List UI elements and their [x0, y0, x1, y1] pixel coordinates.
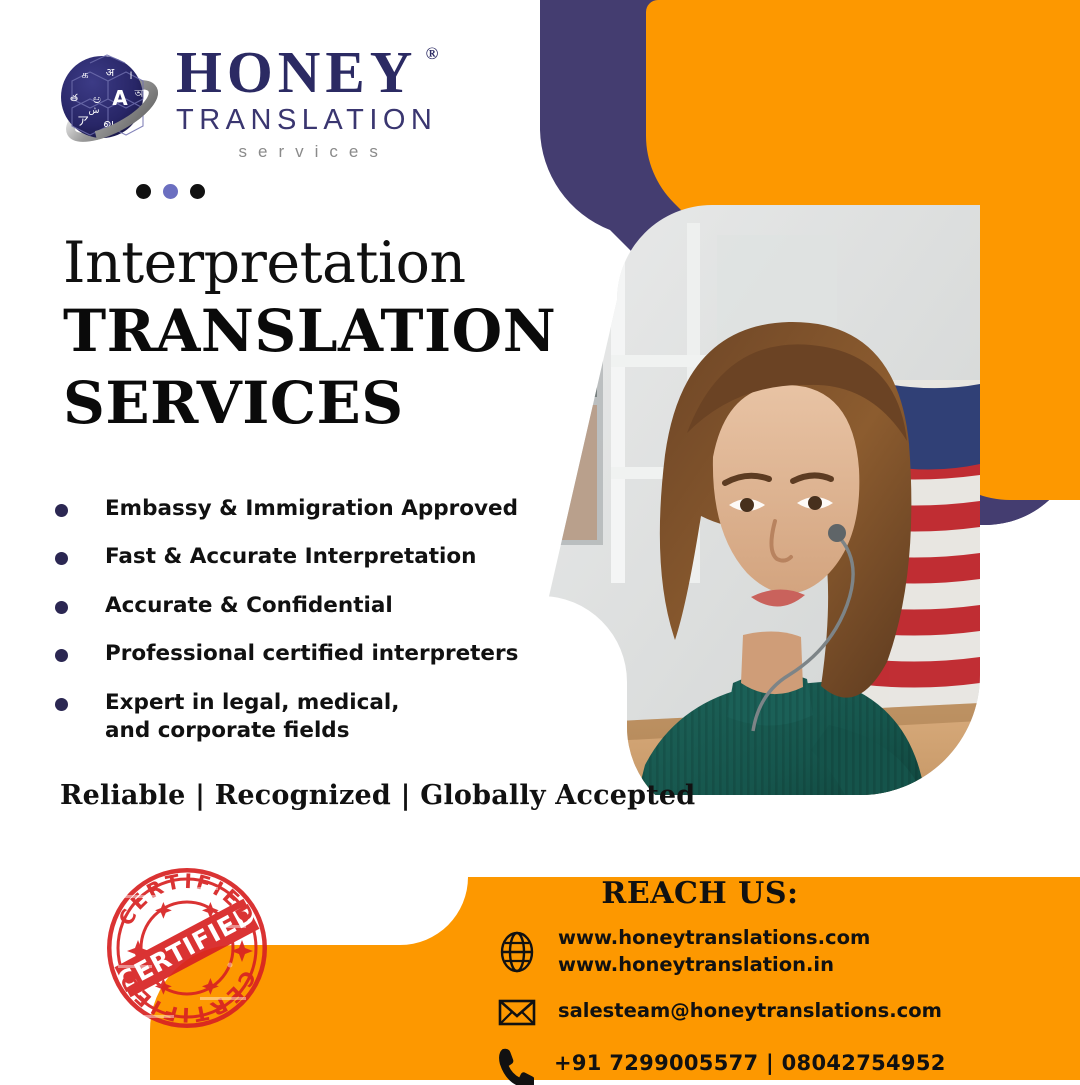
- envelope-icon: [496, 991, 538, 1033]
- list-item: Professional certified interpreters: [55, 640, 525, 668]
- certified-stamp-icon: CERTIFIED CERTIFIED CERTIFIED: [104, 865, 270, 1031]
- logo-name-tag: services: [176, 142, 437, 162]
- list-item-label: Fast & Accurate Interpretation: [105, 543, 476, 571]
- svg-text:ア: ア: [77, 114, 89, 128]
- email-address[interactable]: salesteam@honeytranslations.com: [558, 998, 942, 1025]
- bullet-dot-icon: [55, 649, 68, 662]
- bullet-dot-icon: [55, 552, 68, 565]
- brand-logo[interactable]: க अ ا త ಅ A অ ア ഖ ଳ ش HONEY ® TRANSLATIO…: [50, 40, 470, 199]
- headline-script-line: Interpretation: [63, 235, 533, 292]
- globe-languages-icon: க अ ا త ಅ A অ ア ഖ ଳ ش: [50, 45, 162, 157]
- carousel-dots: [50, 184, 280, 199]
- bullet-dot-icon: [55, 504, 68, 517]
- list-item-label: Expert in legal, medical, and corporate …: [105, 689, 445, 746]
- list-item: Expert in legal, medical, and corporate …: [55, 689, 525, 746]
- list-item-label: Embassy & Immigration Approved: [105, 495, 518, 523]
- registered-trademark-mark: ®: [426, 46, 439, 62]
- svg-text:ا: ا: [130, 71, 133, 82]
- svg-text:ಅ: ಅ: [93, 92, 101, 106]
- svg-text:अ: अ: [106, 66, 115, 79]
- bullet-dot-icon: [55, 698, 68, 711]
- bullet-dot-icon: [55, 601, 68, 614]
- svg-text:ش: ش: [89, 106, 100, 116]
- website-url-2[interactable]: www.honeytranslation.in: [558, 952, 870, 979]
- contact-row-email[interactable]: salesteam@honeytranslations.com: [420, 991, 1080, 1033]
- dot-indicator-2: [163, 184, 178, 199]
- contact-panel-title: REACH US:: [420, 876, 980, 911]
- headline-bold-line-2: SERVICES: [63, 370, 533, 436]
- contact-row-website[interactable]: www.honeytranslations.com www.honeytrans…: [420, 925, 1080, 979]
- contact-panel: REACH US: www.honeytranslations.com www.…: [420, 876, 1080, 1085]
- svg-text:க: க: [81, 68, 88, 81]
- svg-text:CERTIFIED: CERTIFIED: [113, 869, 260, 930]
- list-item-label: Professional certified interpreters: [105, 640, 518, 668]
- dot-indicator-3: [190, 184, 205, 199]
- svg-text:A: A: [112, 86, 128, 110]
- website-url-1[interactable]: www.honeytranslations.com: [558, 925, 870, 952]
- headline-bold-line-1: TRANSLATION: [63, 298, 533, 364]
- svg-text:త: త: [70, 93, 78, 104]
- feature-list: Embassy & Immigration Approved Fast & Ac…: [55, 495, 525, 745]
- contact-row-phone[interactable]: +91 7299005577 | 08042754952: [420, 1043, 1080, 1085]
- list-item: Fast & Accurate Interpretation: [55, 543, 525, 571]
- dot-indicator-1: [136, 184, 151, 199]
- phone-icon: [492, 1043, 534, 1085]
- globe-icon: [496, 931, 538, 973]
- svg-text:অ: অ: [134, 89, 144, 100]
- list-item: Accurate & Confidential: [55, 592, 525, 620]
- list-item-label: Accurate & Confidential: [105, 592, 393, 620]
- logo-name-sub: TRANSLATION: [176, 102, 437, 138]
- list-item: Embassy & Immigration Approved: [55, 495, 525, 523]
- svg-text:CERTIFIED: CERTIFIED: [113, 967, 260, 1028]
- page-title: Interpretation TRANSLATION SERVICES: [63, 235, 533, 436]
- tagline: Reliable | Recognized | Globally Accepte…: [60, 780, 695, 811]
- logo-name-main: HONEY ®: [176, 44, 417, 100]
- phone-numbers[interactable]: +91 7299005577 | 08042754952: [554, 1049, 946, 1078]
